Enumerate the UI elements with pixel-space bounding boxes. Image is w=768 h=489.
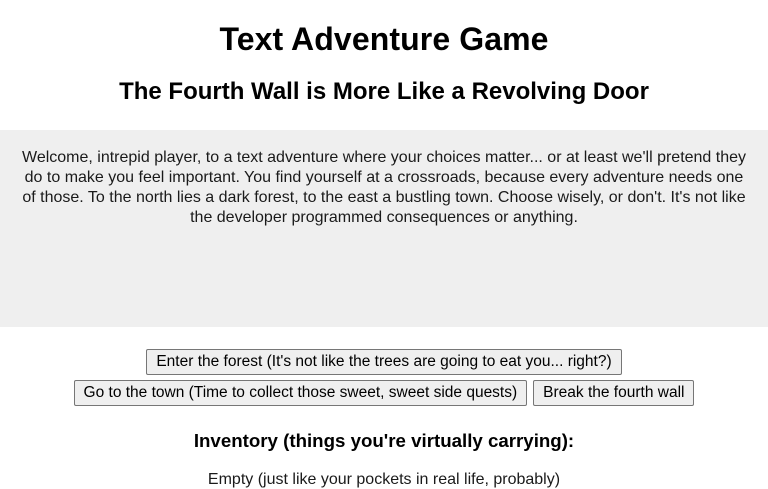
- inventory-status: Empty (just like your pockets in real li…: [0, 452, 768, 489]
- choice-button-break-fourth-wall[interactable]: Break the fourth wall: [533, 380, 694, 406]
- game-page: Text Adventure Game The Fourth Wall is M…: [0, 0, 768, 480]
- page-subtitle: The Fourth Wall is More Like a Revolving…: [0, 58, 768, 106]
- choice-button-enter-forest[interactable]: Enter the forest (It's not like the tree…: [146, 349, 621, 375]
- page-title: Text Adventure Game: [0, 0, 768, 58]
- story-text: Welcome, intrepid player, to a text adve…: [22, 148, 746, 228]
- inventory-heading: Inventory (things you're virtually carry…: [0, 411, 768, 452]
- story-panel: Welcome, intrepid player, to a text adve…: [0, 130, 768, 327]
- choice-list: Enter the forest (It's not like the tree…: [0, 327, 768, 411]
- choice-button-go-to-town[interactable]: Go to the town (Time to collect those sw…: [74, 380, 528, 406]
